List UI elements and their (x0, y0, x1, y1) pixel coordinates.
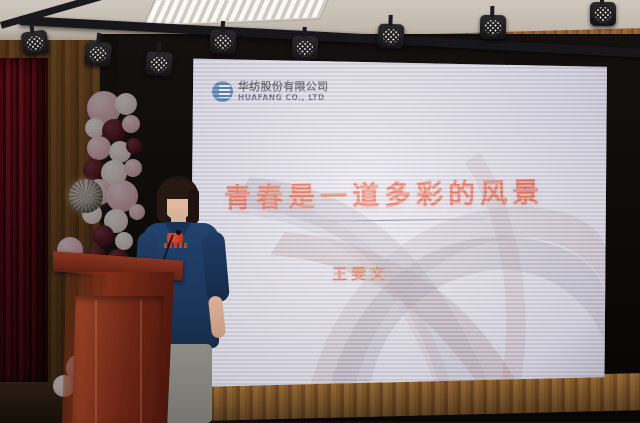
balloon (87, 136, 111, 160)
stage-light-7 (480, 15, 506, 39)
microphone-head-icon (176, 230, 181, 235)
light-yoke (157, 43, 162, 54)
stage-light-4 (209, 29, 236, 54)
podium-seam (95, 300, 97, 423)
light-yoke (388, 15, 392, 26)
slide-company-logo: 华纺股份有限公司 HUAFANG CO., LTD (212, 81, 328, 102)
slide-author-name: 王雯文 (332, 263, 389, 285)
podium-seam (140, 300, 142, 423)
slide-title: 青春是一道多彩的风景 (224, 170, 575, 216)
balloon (126, 138, 142, 154)
stage-light-2 (84, 41, 112, 68)
light-lens (593, 5, 613, 23)
balloon (115, 232, 133, 250)
presenter-trousers (164, 344, 212, 423)
stage-light-1 (20, 29, 49, 56)
slide-ribbon-graphics (190, 57, 607, 387)
light-yoke (302, 27, 306, 38)
stage-light-8 (590, 2, 616, 26)
curtain-shadow (0, 58, 48, 388)
presenter-hair-right (188, 188, 199, 224)
company-name-cn: 华纺股份有限公司 (238, 81, 328, 92)
presenter-arm-right (208, 295, 226, 338)
balloon (122, 115, 140, 133)
light-lens (213, 32, 234, 51)
presenter-sleeve-right (201, 231, 230, 303)
light-lens (295, 39, 316, 58)
huafang-circle-logo-icon (212, 81, 233, 102)
stage-light-5 (292, 36, 319, 61)
balloon (92, 225, 114, 247)
light-yoke (490, 6, 494, 17)
stage-light-3 (145, 51, 173, 77)
light-lens (24, 33, 46, 54)
balloon (115, 93, 137, 115)
light-yoke (221, 21, 226, 32)
balloon (124, 159, 142, 177)
confetti-balloon (69, 179, 103, 213)
light-lens (483, 18, 503, 36)
light-yoke (96, 33, 101, 44)
conference-hall-photo: 华纺股份有限公司 HUAFANG CO., LTD 青春是一道多彩的风景 王雯文 (0, 0, 640, 423)
company-name-en: HUAFANG CO., LTD (238, 94, 328, 102)
light-lens (87, 44, 109, 64)
light-yoke (600, 0, 604, 4)
presenter-hair-left (157, 188, 167, 221)
podium-front-panel (72, 296, 164, 423)
light-lens (148, 54, 169, 73)
stage-light-6 (378, 24, 405, 49)
light-lens (381, 27, 402, 46)
projection-screen: 华纺股份有限公司 HUAFANG CO., LTD 青春是一道多彩的风景 王雯文 (190, 57, 607, 387)
